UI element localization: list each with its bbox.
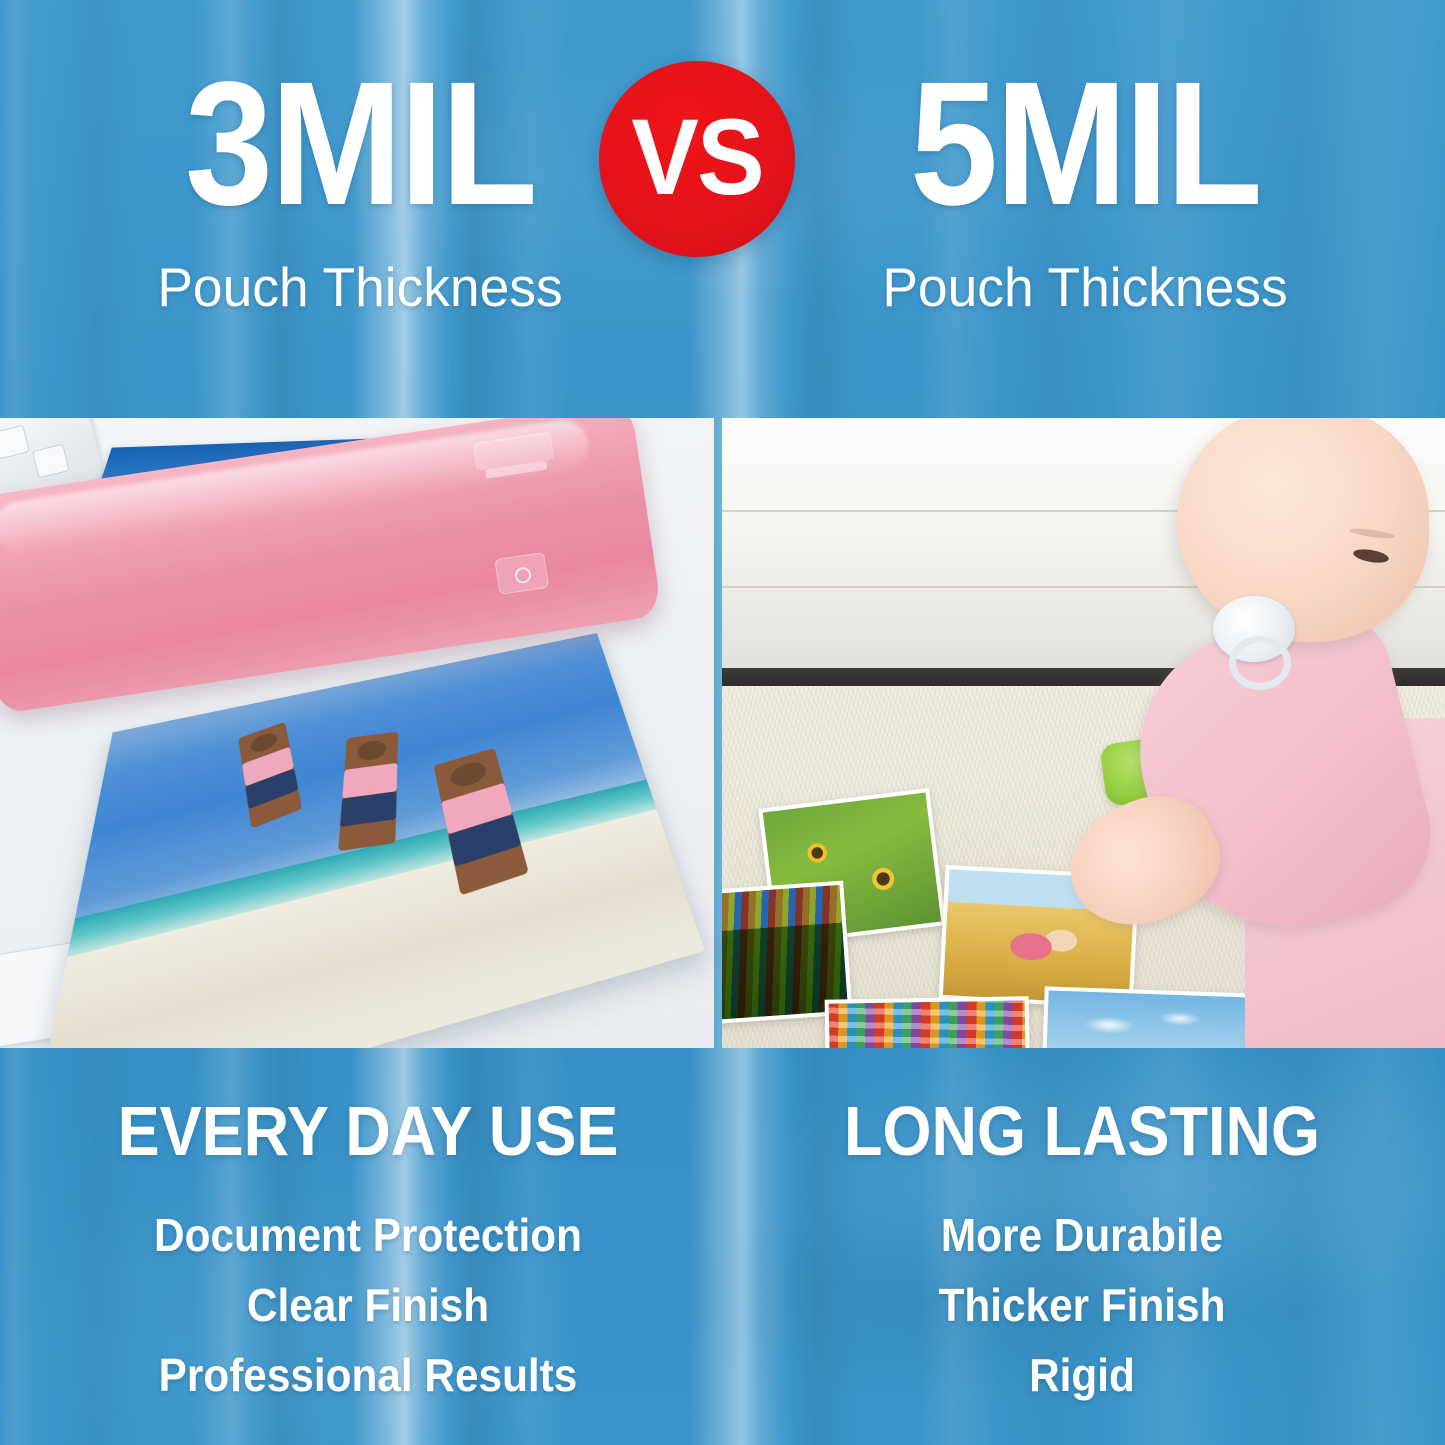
list-item: Professional Results xyxy=(55,1340,681,1410)
figure-head xyxy=(357,739,387,761)
list-item: Clear Finish xyxy=(55,1270,681,1340)
benefits-column-left: EVERY DAY USE Document Protection Clear … xyxy=(28,1048,708,1410)
list-item: More Durabile xyxy=(769,1200,1395,1270)
header-section: 3MIL Pouch Thickness 5MIL Pouch Thicknes… xyxy=(0,0,1445,418)
header-column-left: 3MIL Pouch Thickness xyxy=(20,0,700,418)
figure-head xyxy=(449,759,489,790)
versus-badge-label: VS xyxy=(631,103,763,211)
right-benefits-heading: LONG LASTING xyxy=(776,1048,1388,1166)
left-thickness-subtitle: Pouch Thickness xyxy=(30,216,690,315)
beach-figure xyxy=(238,722,302,829)
laminator-control-panel xyxy=(494,552,549,595)
beach-figure xyxy=(338,732,398,852)
photo-left-laminator xyxy=(0,418,714,1048)
product-comparison-infographic: 3MIL Pouch Thickness 5MIL Pouch Thicknes… xyxy=(0,0,1445,1445)
pacifier xyxy=(1213,596,1295,662)
benefits-section: EVERY DAY USE Document Protection Clear … xyxy=(0,1048,1445,1445)
header-column-right: 5MIL Pouch Thickness xyxy=(745,0,1425,418)
list-item: Rigid xyxy=(769,1340,1395,1410)
left-benefits-heading: EVERY DAY USE xyxy=(62,1048,674,1166)
list-item: Thicker Finish xyxy=(769,1270,1395,1340)
right-thickness-title: 5MIL xyxy=(779,0,1391,216)
versus-badge: VS xyxy=(599,61,795,257)
laminated-card-abstract-art xyxy=(825,996,1032,1048)
list-item: Document Protection xyxy=(55,1200,681,1270)
right-thickness-subtitle: Pouch Thickness xyxy=(755,216,1415,315)
benefits-column-right: LONG LASTING More Durabile Thicker Finis… xyxy=(742,1048,1422,1410)
left-benefits-list: Document Protection Clear Finish Profess… xyxy=(28,1166,708,1410)
photo-comparison-band xyxy=(0,418,1445,1048)
right-benefits-list: More Durabile Thicker Finish Rigid xyxy=(742,1166,1422,1410)
laminated-card-landscape xyxy=(1039,986,1258,1048)
photo-right-baby-carpet xyxy=(722,418,1445,1048)
left-thickness-title: 3MIL xyxy=(54,0,666,216)
